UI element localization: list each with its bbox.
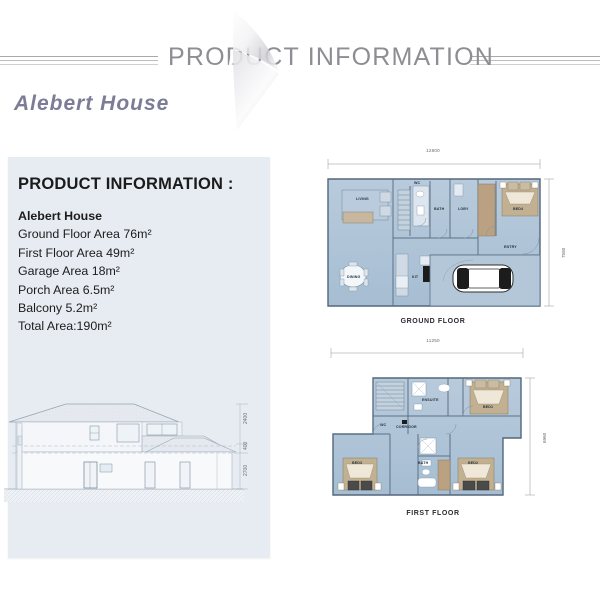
first-floor-plan: 11250 6960 FIRST FLOOR — [318, 338, 590, 523]
brand-title: Alebert House — [14, 92, 169, 116]
product-info-content: PRODUCT INFORMATION : Alebert House Grou… — [18, 175, 263, 336]
list-item: Porch Area 6.5m² — [18, 281, 263, 299]
car-graphic — [453, 265, 513, 292]
room-label-wc: WC — [414, 181, 421, 185]
room-label-loby: LOBY — [458, 207, 469, 211]
list-item: First Floor Area 49m² — [18, 244, 263, 262]
product-info-list: Alebert House Ground Floor Area 76m² Fir… — [18, 207, 263, 336]
ground-floor-caption: GROUND FLOOR — [318, 318, 548, 325]
list-item: Garage Area 18m² — [18, 262, 263, 280]
product-info-heading: PRODUCT INFORMATION : — [18, 175, 263, 194]
room-label-bed1: BED1 — [483, 405, 493, 409]
list-item: Balcony 5.2m² — [18, 299, 263, 317]
brand-banner: Alebert House — [0, 82, 250, 132]
room-label-dining: DINING — [347, 275, 361, 279]
room-label-living: LIVING — [356, 197, 369, 201]
room-label-corridor: CORRIDOR — [396, 425, 417, 429]
room-label-bath-first: BATH — [418, 461, 429, 465]
list-item: Alebert House — [18, 207, 263, 225]
list-item: Ground Floor Area 76m² — [18, 225, 263, 243]
room-label-bath-ground: BATH — [434, 207, 445, 211]
first-width-dimension: 11250 — [318, 338, 548, 343]
front-elevation-drawing: 2400 400 2700 — [4, 390, 266, 510]
list-item: Total Area:190m² — [18, 317, 263, 335]
first-floor-caption: FIRST FLOOR — [318, 510, 548, 517]
elevation-dim-400: 400 — [243, 441, 249, 450]
room-label-ensuite: ENSUITE — [422, 398, 439, 402]
elevation-dim-2400: 2400 — [243, 413, 249, 424]
header-rule-left-3 — [0, 64, 158, 65]
room-label-bed2: BED2 — [468, 461, 478, 465]
elevation-dim-2700: 2700 — [243, 465, 249, 476]
ground-floor-plan: 12800 7580 GROUND FLOOR — [318, 148, 590, 333]
room-label-wc-first: WC — [380, 423, 387, 427]
room-label-bed3: BED3 — [352, 461, 362, 465]
ground-width-dimension: 12800 — [318, 148, 548, 153]
header-rule-left-1 — [0, 56, 158, 57]
header-rule-left-2 — [0, 60, 158, 61]
room-label-kitchen: KIT — [412, 275, 419, 279]
room-label-bed4: BED4 — [513, 207, 523, 211]
room-label-entry: ENTRY — [504, 245, 517, 249]
ground-height-dimension: 7580 — [561, 248, 566, 258]
page-title: PRODUCT INFORMATION — [168, 40, 458, 74]
page-header: PRODUCT INFORMATION Alebert House — [0, 0, 600, 150]
first-height-dimension: 6960 — [542, 433, 547, 443]
